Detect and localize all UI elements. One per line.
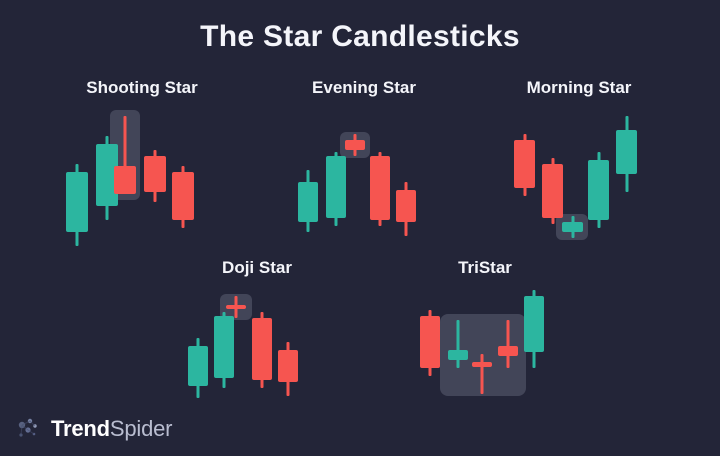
candlestick-plot-morning-star bbox=[494, 104, 664, 248]
candle-3 bbox=[370, 104, 390, 249]
candle-4 bbox=[172, 104, 194, 249]
page-title: The Star Candlesticks bbox=[0, 20, 720, 54]
candle-3 bbox=[252, 284, 272, 404]
chart-panel-doji-star: Doji Star bbox=[182, 258, 332, 408]
chart-title-doji-star: Doji Star bbox=[182, 258, 332, 278]
candle-body bbox=[326, 156, 346, 218]
candle-4 bbox=[278, 284, 298, 404]
candle-body bbox=[396, 190, 416, 222]
candle-3 bbox=[588, 104, 609, 249]
candlestick-plot-shooting-star bbox=[52, 104, 232, 248]
candle-wick bbox=[481, 354, 484, 394]
candle-body bbox=[66, 172, 88, 232]
candle-4 bbox=[524, 284, 544, 404]
candle-1-tristar-doji bbox=[448, 284, 468, 404]
candle-0 bbox=[420, 284, 440, 404]
candle-body bbox=[472, 362, 492, 367]
candle-body bbox=[370, 156, 390, 220]
candle-3-tristar-doji bbox=[498, 284, 518, 404]
brand-name-primary: Trend bbox=[51, 416, 110, 441]
brand-wordmark: TrendSpider bbox=[51, 418, 172, 440]
candle-body bbox=[226, 305, 246, 309]
candle-0 bbox=[298, 104, 318, 249]
candle-body bbox=[252, 318, 272, 380]
candlestick-plot-doji-star bbox=[182, 284, 332, 408]
candle-1 bbox=[542, 104, 563, 249]
candle-4 bbox=[396, 104, 416, 249]
candle-body bbox=[524, 296, 544, 352]
candlestick-plot-tristar bbox=[410, 284, 560, 408]
chart-title-tristar: TriStar bbox=[410, 258, 560, 278]
candle-body bbox=[188, 346, 208, 386]
candle-1 bbox=[326, 104, 346, 249]
candle-body bbox=[562, 222, 583, 232]
candle-4 bbox=[616, 104, 637, 249]
dots-cluster-icon bbox=[16, 416, 42, 442]
chart-panel-shooting-star: Shooting Star bbox=[52, 78, 232, 248]
poster-canvas: The Star Candlesticks Shooting Star bbox=[0, 0, 720, 456]
candle-2-doji-star bbox=[226, 284, 246, 404]
brand-name-secondary: Spider bbox=[110, 416, 172, 441]
chart-panel-evening-star: Evening Star bbox=[284, 78, 444, 248]
candle-body bbox=[114, 166, 136, 194]
chart-panel-tristar: TriStar bbox=[410, 258, 560, 408]
candle-0 bbox=[514, 104, 535, 249]
candle-body bbox=[448, 350, 468, 360]
candlestick-plot-evening-star bbox=[284, 104, 444, 248]
candle-2-morning-star bbox=[562, 104, 583, 249]
candle-body bbox=[542, 164, 563, 218]
candle-3 bbox=[144, 104, 166, 249]
chart-title-shooting-star: Shooting Star bbox=[52, 78, 232, 98]
candle-body bbox=[345, 140, 365, 150]
candle-body bbox=[616, 130, 637, 174]
chart-title-morning-star: Morning Star bbox=[494, 78, 664, 98]
candle-2-evening-star bbox=[345, 104, 365, 249]
candle-body bbox=[298, 182, 318, 222]
candle-wick bbox=[457, 320, 460, 368]
candle-0 bbox=[66, 104, 88, 249]
candle-body bbox=[420, 316, 440, 368]
candle-body bbox=[498, 346, 518, 356]
chart-title-evening-star: Evening Star bbox=[284, 78, 444, 98]
candle-body bbox=[588, 160, 609, 220]
candle-body bbox=[514, 140, 535, 188]
candle-2-shooting-star bbox=[114, 104, 136, 249]
candle-wick bbox=[507, 320, 510, 368]
chart-panel-morning-star: Morning Star bbox=[494, 78, 664, 248]
brand-logo: TrendSpider bbox=[16, 416, 172, 442]
candle-body bbox=[172, 172, 194, 220]
candle-body bbox=[278, 350, 298, 382]
candle-0 bbox=[188, 284, 208, 404]
candle-body bbox=[144, 156, 166, 192]
candle-2-tristar-doji bbox=[472, 284, 492, 404]
